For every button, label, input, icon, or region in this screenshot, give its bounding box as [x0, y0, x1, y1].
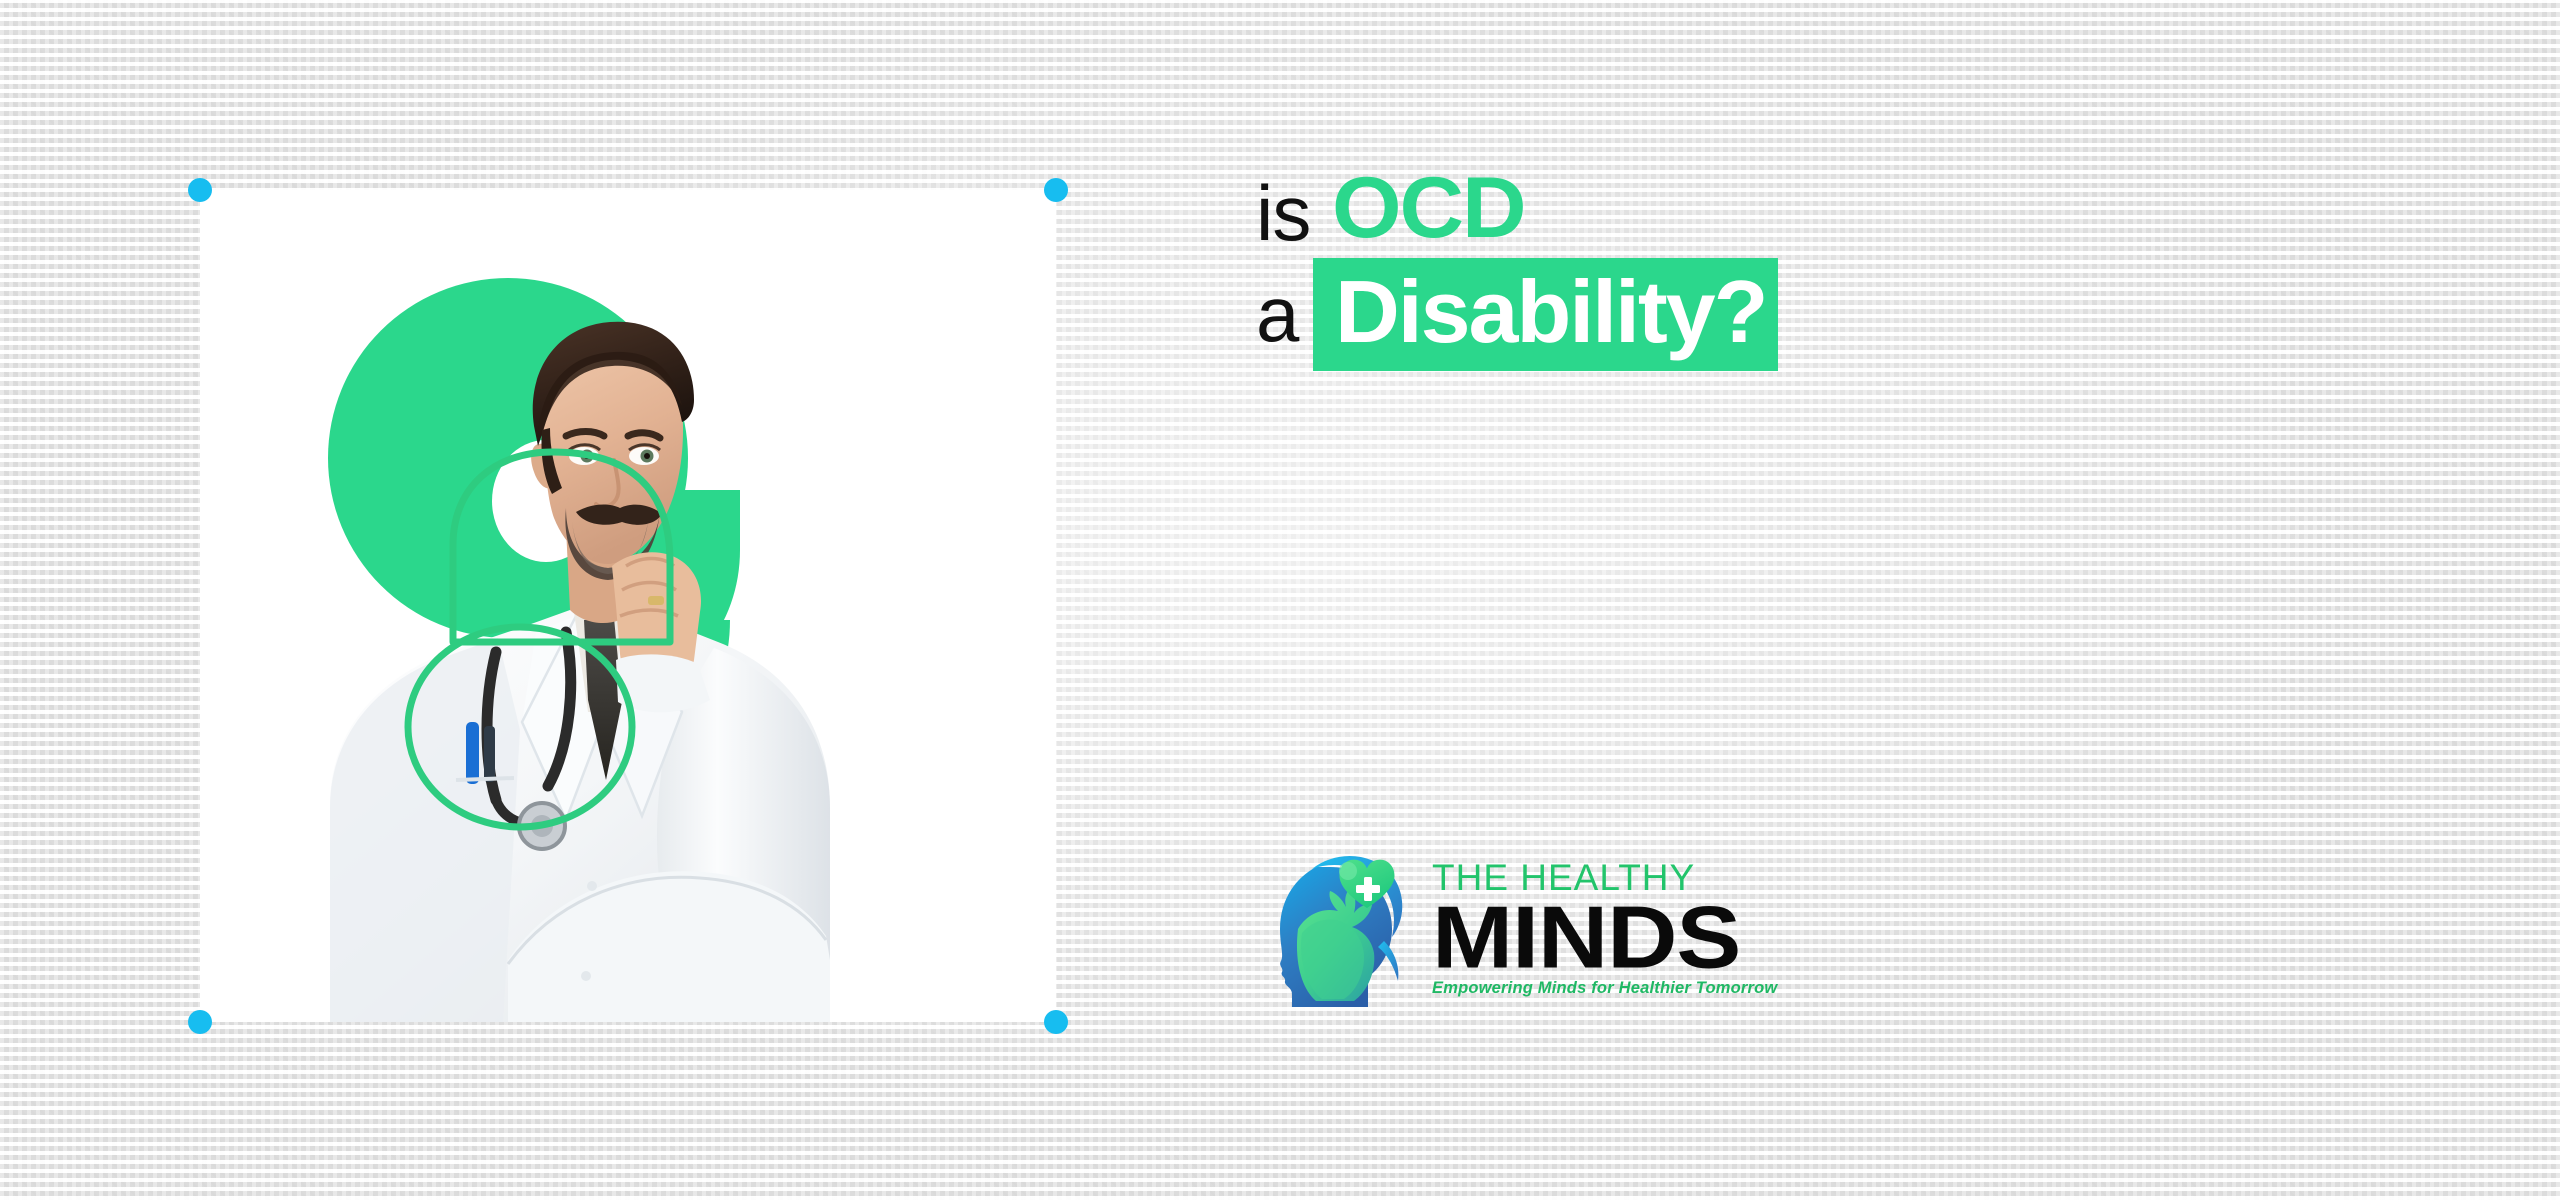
headline-block: is OCD a Disability? [1256, 168, 2156, 371]
poster-canvas: is OCD a Disability? [0, 0, 2560, 1200]
headline-line-1: is OCD [1256, 168, 2156, 250]
headline-highlight-box: Disability? [1313, 258, 1778, 371]
selection-handle-bottom-right[interactable] [1044, 1010, 1068, 1034]
brand-name-line-2: MINDS [1432, 897, 1833, 978]
headline-word-is: is [1256, 176, 1310, 250]
selection-handle-bottom-left[interactable] [188, 1010, 212, 1034]
headline-line-2: a Disability? [1256, 258, 2156, 371]
doctor-photo [270, 260, 910, 1022]
headline-word-disability: Disability? [1335, 272, 1766, 353]
headline-word-ocd: OCD [1332, 168, 1525, 250]
brand-logo-text: THE HEALTHY MINDS Empowering Minds for H… [1432, 859, 1777, 997]
selection-handle-top-right[interactable] [1044, 178, 1068, 202]
headline-word-a: a [1256, 275, 1299, 353]
head-heart-hand-icon [1272, 845, 1422, 1010]
selected-image-card[interactable] [200, 190, 1056, 1022]
selection-handle-top-left[interactable] [188, 178, 212, 202]
brand-logo[interactable]: THE HEALTHY MINDS Empowering Minds for H… [1272, 845, 1777, 1010]
